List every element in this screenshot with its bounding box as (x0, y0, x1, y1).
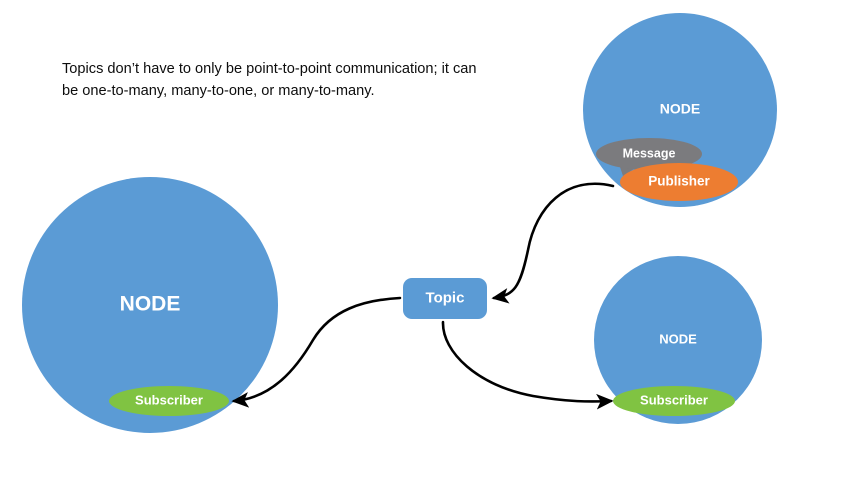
node-left-label: NODE (120, 293, 181, 316)
connector-publisher-to-topic (494, 184, 613, 298)
publisher-label: Publisher (648, 174, 710, 189)
publisher-pill[interactable]: Publisher (620, 163, 738, 201)
diagram-graphics: NODE NODE NODE Message Publisher Subscri… (0, 0, 854, 480)
diagram-canvas: Topics don’t have to only be point-to-po… (0, 0, 854, 480)
subscriber-bottom-right-label: Subscriber (640, 392, 708, 407)
subscriber-pill-left[interactable]: Subscriber (109, 386, 229, 416)
message-label: Message (623, 146, 676, 160)
topic-label: Topic (426, 289, 465, 306)
subscriber-pill-bottom-right[interactable]: Subscriber (613, 386, 735, 416)
node-top-right-label: NODE (660, 101, 700, 117)
subscriber-left-label: Subscriber (135, 392, 203, 407)
node-bottom-right-label: NODE (659, 331, 697, 346)
topic-box[interactable]: Topic (403, 278, 487, 319)
connector-topic-to-subscriber-bottom-right (443, 322, 611, 401)
